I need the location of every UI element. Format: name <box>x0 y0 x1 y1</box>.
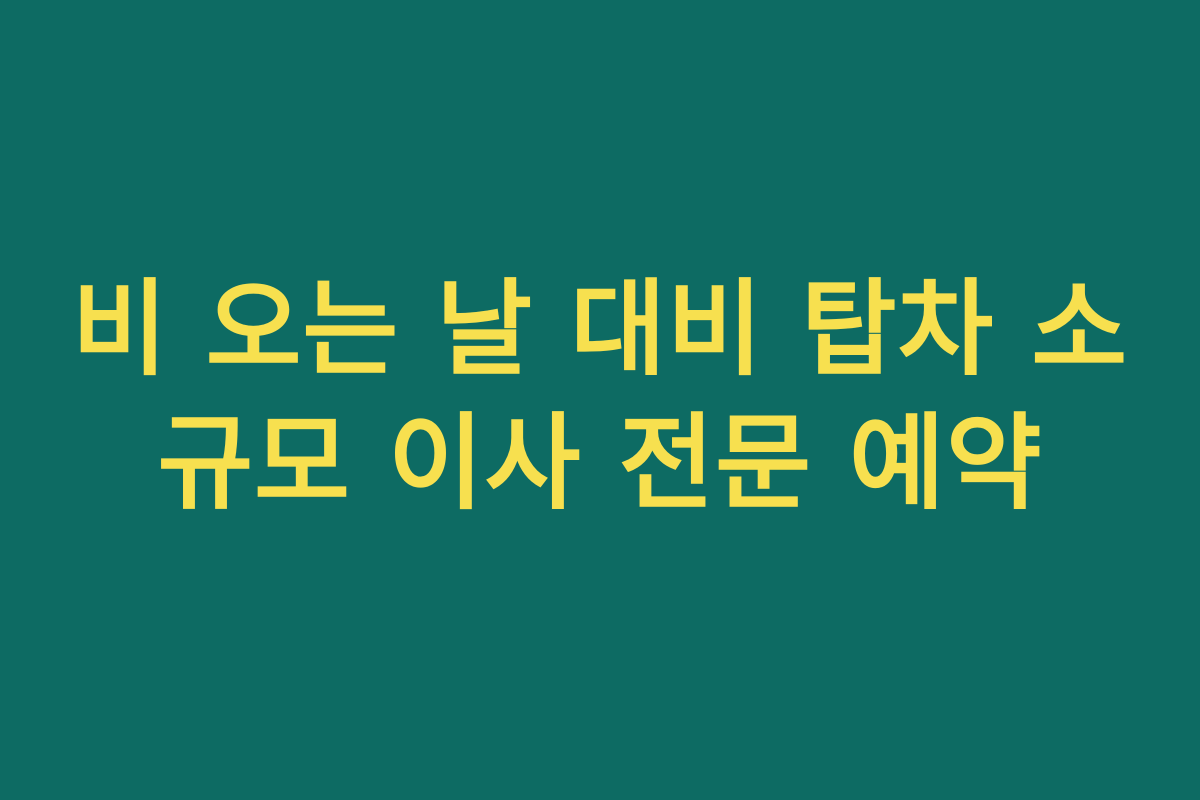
headline-line-1: 비 오는 날 대비 탑차 소 <box>70 262 1130 396</box>
headline-line-2: 규모 이사 전문 예약 <box>70 396 1130 530</box>
headline-block: 비 오는 날 대비 탑차 소 규모 이사 전문 예약 <box>70 262 1130 530</box>
banner-canvas: 비 오는 날 대비 탑차 소 규모 이사 전문 예약 <box>0 0 1200 800</box>
